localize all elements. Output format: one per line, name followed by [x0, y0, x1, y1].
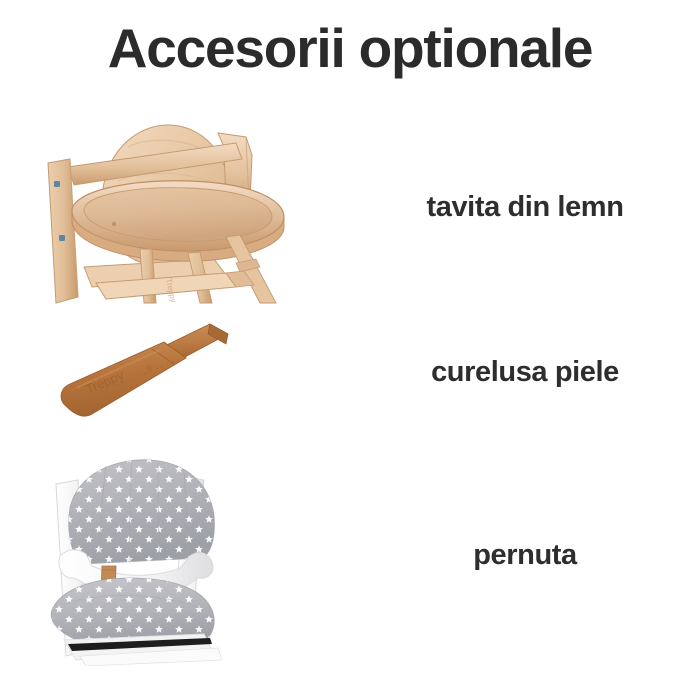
accessory-label-tray: tavita din lemn [426, 191, 623, 224]
accessory-label-cushion: pernuta [473, 539, 577, 572]
accessory-row-cushion: pernuta [0, 440, 700, 670]
accessory-label-strap: curelusa piele [431, 356, 619, 389]
page-title: Accesorii optionale [0, 18, 700, 78]
accessories-page: Accesorii optionale [0, 0, 700, 700]
leather-strap-icon: Treppy ® [52, 314, 252, 429]
accessory-label-cell-cushion: pernuta [350, 440, 700, 670]
accessory-label-cell-strap: curelusa piele [350, 312, 700, 432]
accessory-image-cushion [0, 440, 350, 670]
accessory-image-strap: Treppy ® [0, 312, 350, 432]
accessory-row-strap: Treppy ® curelusa piele [0, 312, 700, 432]
accessory-label-cell-tray: tavita din lemn [350, 105, 700, 310]
grey-star-cushion-highchair-icon [34, 444, 264, 666]
wooden-tray-highchair-icon: Treppy [40, 107, 290, 307]
accessory-row-tray: Treppy tavita din lemn [0, 105, 700, 310]
accessory-image-tray: Treppy [0, 105, 350, 310]
